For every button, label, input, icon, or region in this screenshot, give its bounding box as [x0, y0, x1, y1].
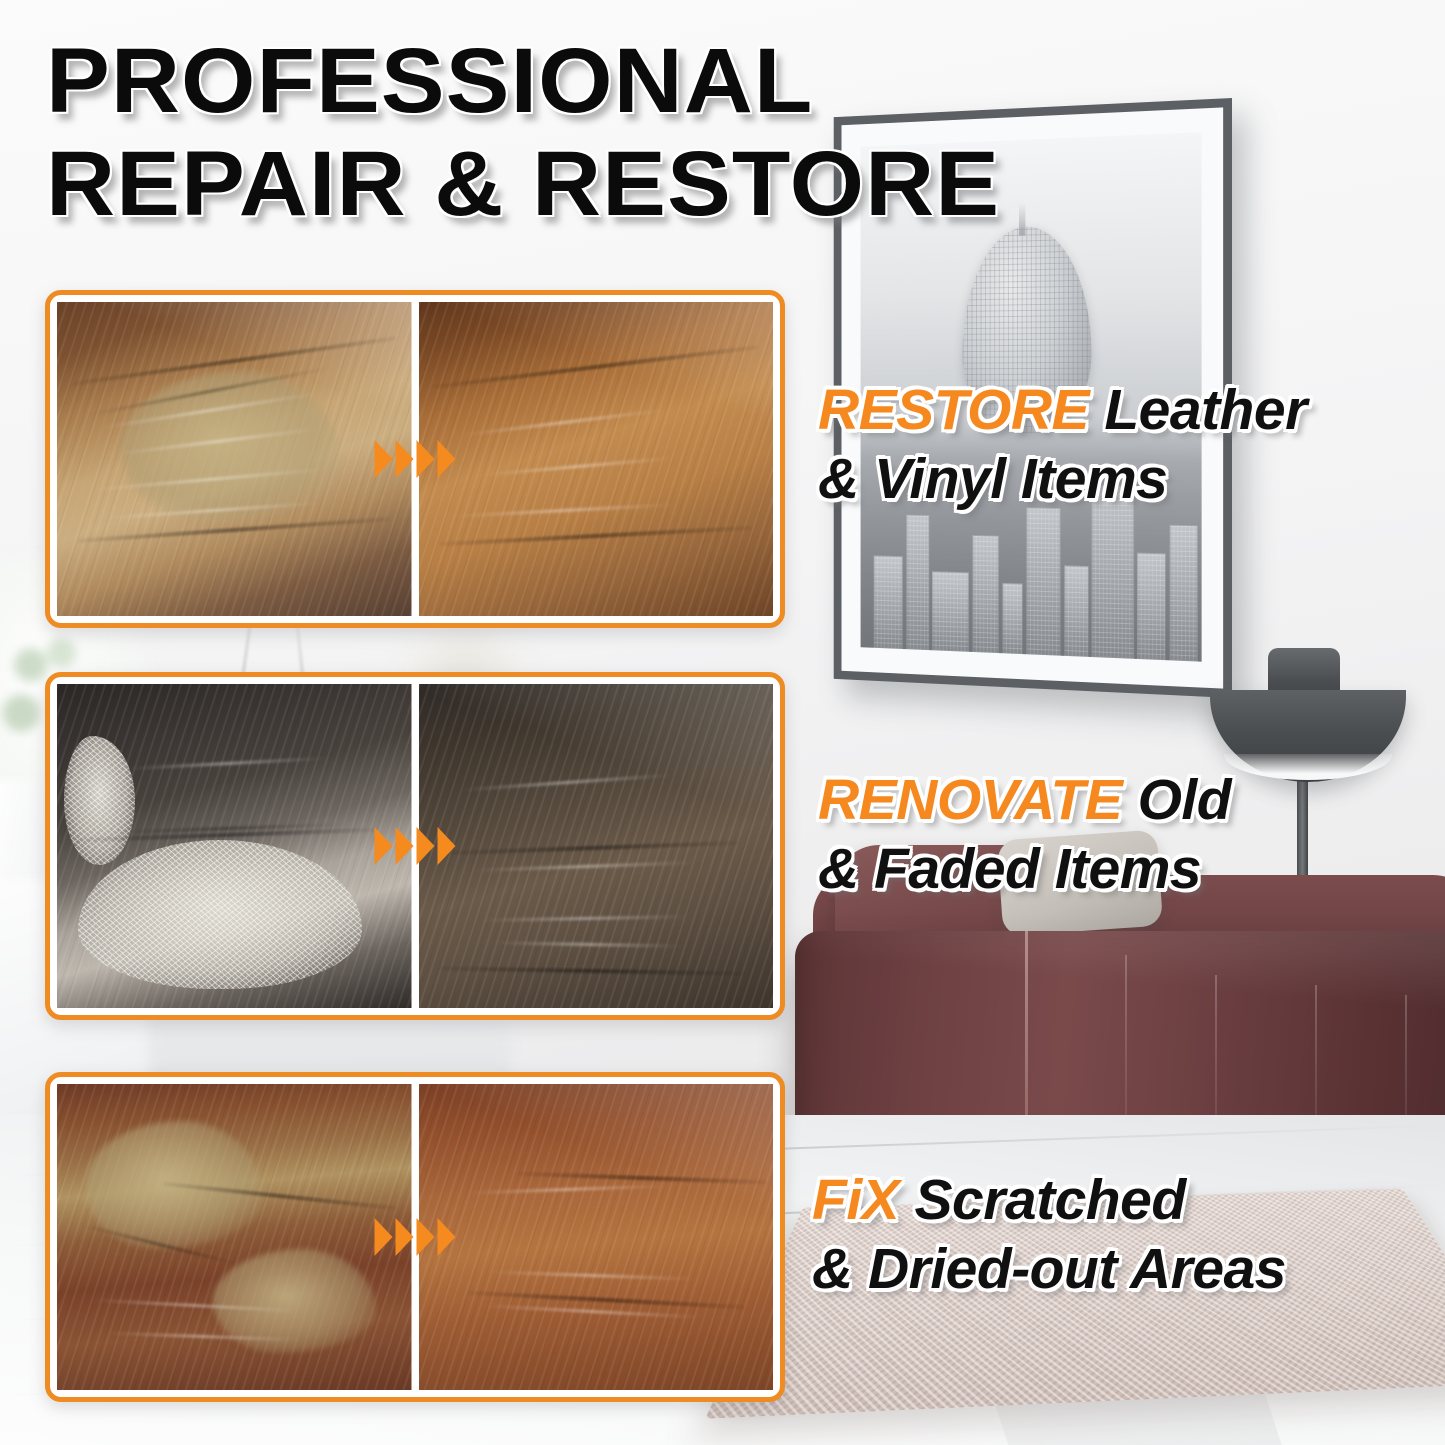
feature-line2-fix: & Dried-out Areas [812, 1237, 1286, 1301]
after-image-dark-recliner [419, 684, 774, 1008]
before-image-brown-sofa [57, 1084, 412, 1390]
double-chevron-right-icon [375, 827, 456, 865]
feature-keyword-restore: RESTORE [818, 378, 1089, 442]
before-image-tan-sofa [57, 302, 412, 616]
feature-fix: FiX Scratched & Dried-out Areas [812, 1168, 1286, 1302]
before-image-dark-recliner [57, 684, 412, 1008]
feature-keyword-renovate: RENOVATE [818, 768, 1122, 832]
after-image-tan-sofa [419, 302, 774, 616]
headline-line-1: PROFESSIONAL [46, 34, 1232, 129]
feature-rest-renovate: Old [1122, 768, 1231, 832]
feature-line2-renovate: & Faded Items [818, 837, 1201, 901]
feature-rest-restore: Leather [1089, 378, 1307, 442]
after-image-brown-sofa [419, 1084, 774, 1390]
feature-keyword-fix: FiX [812, 1168, 899, 1232]
feature-renovate: RENOVATE Old & Faded Items [818, 768, 1231, 902]
before-after-panel-dark-recliner [45, 672, 785, 1020]
feature-restore: RESTORE Leather & Vinyl Items [818, 378, 1307, 512]
double-chevron-right-icon [375, 1218, 456, 1256]
page-title: PROFESSIONAL REPAIR & RESTORE [46, 34, 1186, 232]
feature-rest-fix: Scratched [899, 1168, 1185, 1232]
before-after-panel-brown-sofa [45, 1072, 785, 1402]
product-marketing-image: PROFESSIONAL REPAIR & RESTORE [0, 0, 1445, 1445]
double-chevron-right-icon [375, 440, 456, 478]
lamp-shade [1210, 690, 1406, 782]
before-after-panel-tan-sofa [45, 290, 785, 628]
headline-line-2: REPAIR & RESTORE [46, 137, 1232, 232]
feature-line2-restore: & Vinyl Items [818, 447, 1167, 511]
